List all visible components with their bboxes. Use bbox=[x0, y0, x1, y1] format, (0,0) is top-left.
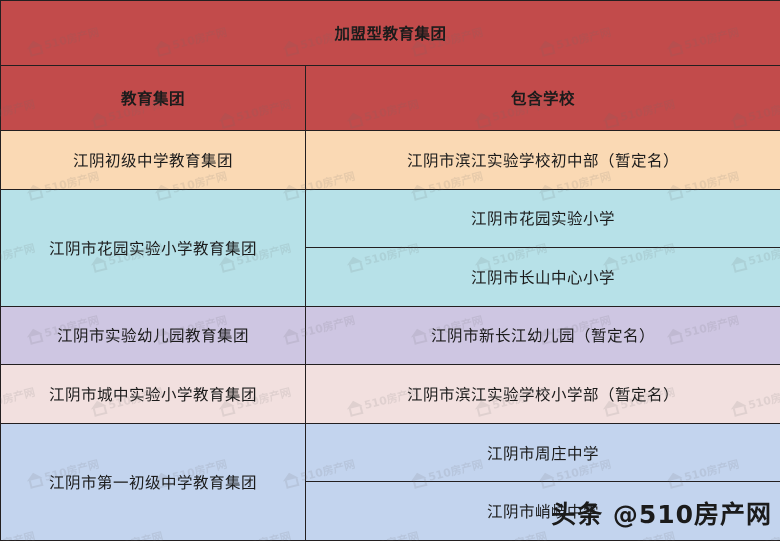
education-group-table-container: 加盟型教育集团 教育集团 包含学校 江阴初级中学教育集团 江阴市滨江实验学校初中… bbox=[0, 0, 780, 541]
school-name-cell: 江阴市新长江幼儿园（暂定名） bbox=[306, 306, 780, 365]
table-title-row: 加盟型教育集团 bbox=[1, 1, 780, 66]
column-header-education-group: 教育集团 bbox=[1, 66, 306, 131]
table-title: 加盟型教育集团 bbox=[1, 1, 780, 66]
table-row: 江阴市第一初级中学教育集团 江阴市周庄中学 bbox=[1, 423, 780, 482]
school-name-cell: 江阴市花园实验小学 bbox=[306, 189, 780, 248]
group-name-cell: 江阴市实验幼儿园教育集团 bbox=[1, 306, 306, 365]
school-name-cell: 江阴市滨江实验学校初中部（暂定名） bbox=[306, 131, 780, 190]
table-row: 江阴初级中学教育集团 江阴市滨江实验学校初中部（暂定名） bbox=[1, 131, 780, 190]
group-name-cell: 江阴市城中实验小学教育集团 bbox=[1, 365, 306, 424]
school-name-cell: 江阴市长山中心小学 bbox=[306, 248, 780, 307]
table-row: 江阴市城中实验小学教育集团 江阴市滨江实验学校小学部（暂定名） bbox=[1, 365, 780, 424]
group-name-cell: 江阴初级中学教育集团 bbox=[1, 131, 306, 190]
table-row: 江阴市实验幼儿园教育集团 江阴市新长江幼儿园（暂定名） bbox=[1, 306, 780, 365]
group-name-cell: 江阴市花园实验小学教育集团 bbox=[1, 189, 306, 306]
column-header-included-schools: 包含学校 bbox=[306, 66, 780, 131]
group-name-cell: 江阴市第一初级中学教育集团 bbox=[1, 423, 306, 540]
education-group-table: 加盟型教育集团 教育集团 包含学校 江阴初级中学教育集团 江阴市滨江实验学校初中… bbox=[0, 0, 780, 541]
school-name-cell: 江阴市滨江实验学校小学部（暂定名） bbox=[306, 365, 780, 424]
school-name-cell: 江阴市周庄中学 bbox=[306, 423, 780, 482]
table-row: 江阴市花园实验小学教育集团 江阴市花园实验小学 bbox=[1, 189, 780, 248]
table-header-row: 教育集团 包含学校 bbox=[1, 66, 780, 131]
brand-watermark: 头条 @510房产网 bbox=[551, 495, 772, 531]
